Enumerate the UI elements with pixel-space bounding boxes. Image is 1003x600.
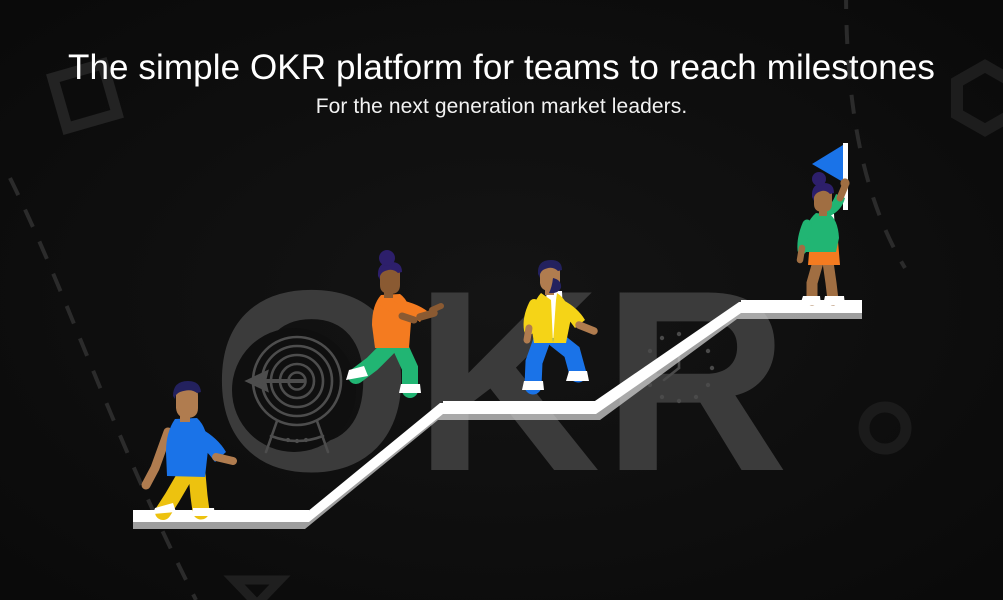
figure-walker-2 — [346, 250, 441, 393]
figure-walker-3 — [522, 260, 594, 390]
milestone-illustration — [0, 0, 1003, 600]
milestone-staircase — [133, 300, 862, 529]
figure-walker-1 — [146, 381, 233, 516]
hero-section: OKR — [0, 0, 1003, 600]
figure-walker-4-with-flag — [800, 143, 850, 305]
